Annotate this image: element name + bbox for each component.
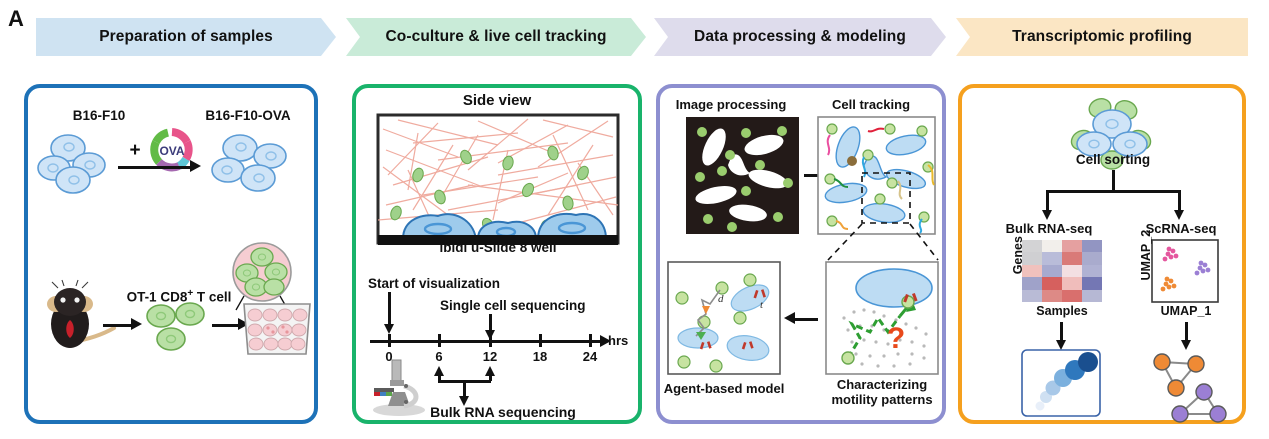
arrow-tcell-to-plate-line [212,324,240,327]
heatmap-cell-1-2 [1062,252,1082,264]
label-b16f10-ova: B16-F10-OVA [178,108,318,124]
agent-based-model-box: d t [668,262,780,374]
banner-transcriptomic: Transcriptomic profiling [956,18,1248,56]
tick-label-24: 24 [579,350,601,365]
sorting-stem [1112,170,1115,192]
heatmap-cell-2-2 [1062,265,1082,277]
tick-label-6: 6 [429,350,449,365]
heatmap-cell-0-2 [1062,240,1082,252]
banner-label-3: Data processing & modeling [688,28,912,46]
umap-xlabel: UMAP_1 [1152,304,1220,318]
heatmap-cell-4-1 [1042,290,1062,302]
heatmap-xlabel: Samples [1022,304,1102,318]
arrow-motility-to-model-head [784,312,795,324]
heatmap-cell-0-1 [1042,240,1062,252]
timeline-marker-start-line [388,292,391,326]
arrow-motility-to-model-line [792,318,818,321]
question-mark-glyph: ? [887,322,905,355]
heatmap-ylabel: Genes [1011,225,1025,285]
sorting-right-head [1174,210,1184,220]
motility-title-line1: Characterizing [812,378,952,393]
banner-data-processing: Data processing & modeling [654,18,946,56]
tick-0 [388,334,391,347]
timeline-axis [370,340,602,343]
well-plate-icon [240,296,314,358]
heatmap-cell-1-3 [1082,252,1102,264]
bulk-down-line [1060,322,1063,342]
banner-label-4: Transcriptomic profiling [1006,28,1198,46]
timeline-annotation-start: Start of visualization [368,276,548,292]
tcell-cluster [146,300,208,358]
heatmap-cell-3-1 [1042,277,1062,289]
sc-down-head [1181,340,1191,350]
microscope-icon [368,358,430,416]
timeline-annotation-single-cell: Single cell sequencing [440,298,640,314]
panel-letter: A [8,6,24,32]
side-view-chamber [378,115,618,243]
model-d-annotation: d [718,293,724,305]
heatmap-cell-3-3 [1082,277,1102,289]
tick-12 [489,334,492,347]
agent-based-model-title: Agent-based model [660,382,788,397]
tumor-cell-cluster-parent [38,128,126,198]
timeline-unit: hrs [608,334,642,349]
trajectory-plot [1022,350,1100,416]
tick-18 [539,334,542,347]
bulk-down-head [1056,340,1066,350]
sorting-right-down [1178,190,1181,212]
sorting-left-down [1046,190,1049,212]
heatmap-cell-2-1 [1042,265,1062,277]
image-processing-mask [686,117,799,234]
label-b16f10: B16-F10 [44,108,154,124]
tick-label-12: 12 [479,350,501,365]
zoom-connector-dashed [770,222,940,262]
banner-coculture: Co-culture & live cell tracking [346,18,646,56]
arrow-mouse-to-tcell-head [131,318,142,330]
arrow-mouse-to-tcell-line [103,324,133,327]
heatmap-cell-4-2 [1062,290,1082,302]
network-graph [1146,350,1232,424]
tick-24 [589,334,592,347]
cell-sorting-label: Cell sorting [1048,152,1178,168]
bulk-rnaseq-label: Bulk RNA-seq [990,222,1108,237]
timeline-marker-start-head [384,324,394,334]
tick-label-18: 18 [529,350,551,365]
umap-ylabel: UMAP_2 [1139,223,1153,287]
sc-down-line [1185,322,1188,342]
banner-label-2: Co-culture & live cell tracking [379,28,612,46]
heatmap-cell-4-0 [1022,290,1042,302]
figure-root: A Preparation of samples Co-culture & li… [0,0,1269,439]
motility-title-line2: motility patterns [812,393,952,408]
motility-patterns-title: Characterizing motility patterns [812,378,952,408]
motility-patterns-box: ? [826,262,938,374]
sorting-left-head [1042,210,1052,220]
banner-label-1: Preparation of samples [93,28,279,46]
heatmap-cell-0-3 [1082,240,1102,252]
arrow-transfection-line [118,166,192,169]
bulk-bracket-left-head [434,366,444,376]
tumor-cell-cluster-ova [208,128,300,200]
heatmap-cell-1-1 [1042,252,1062,264]
cell-tracking-box [818,117,935,234]
cell-tracking-title: Cell tracking [806,98,936,113]
heatmap-cell-3-2 [1062,277,1082,289]
tick-6 [438,334,441,347]
slide-caption: ibidi u-Slide 8 well [372,240,624,256]
ova-plasmid-text: OVA [159,144,184,158]
heatmap-cell-4-3 [1082,290,1102,302]
heatmap-cell-2-3 [1082,265,1102,277]
arrow-transfection-head [190,160,201,172]
banner-preparation: Preparation of samples [36,18,336,56]
bulk-bracket-right-head [485,366,495,376]
side-view-title: Side view [372,92,622,109]
image-processing-title: Image processing [666,98,796,113]
heatmap [1022,240,1102,302]
sorting-crossbar [1046,190,1180,193]
umap-plot [1152,240,1218,302]
plus-sign: + [126,140,144,162]
